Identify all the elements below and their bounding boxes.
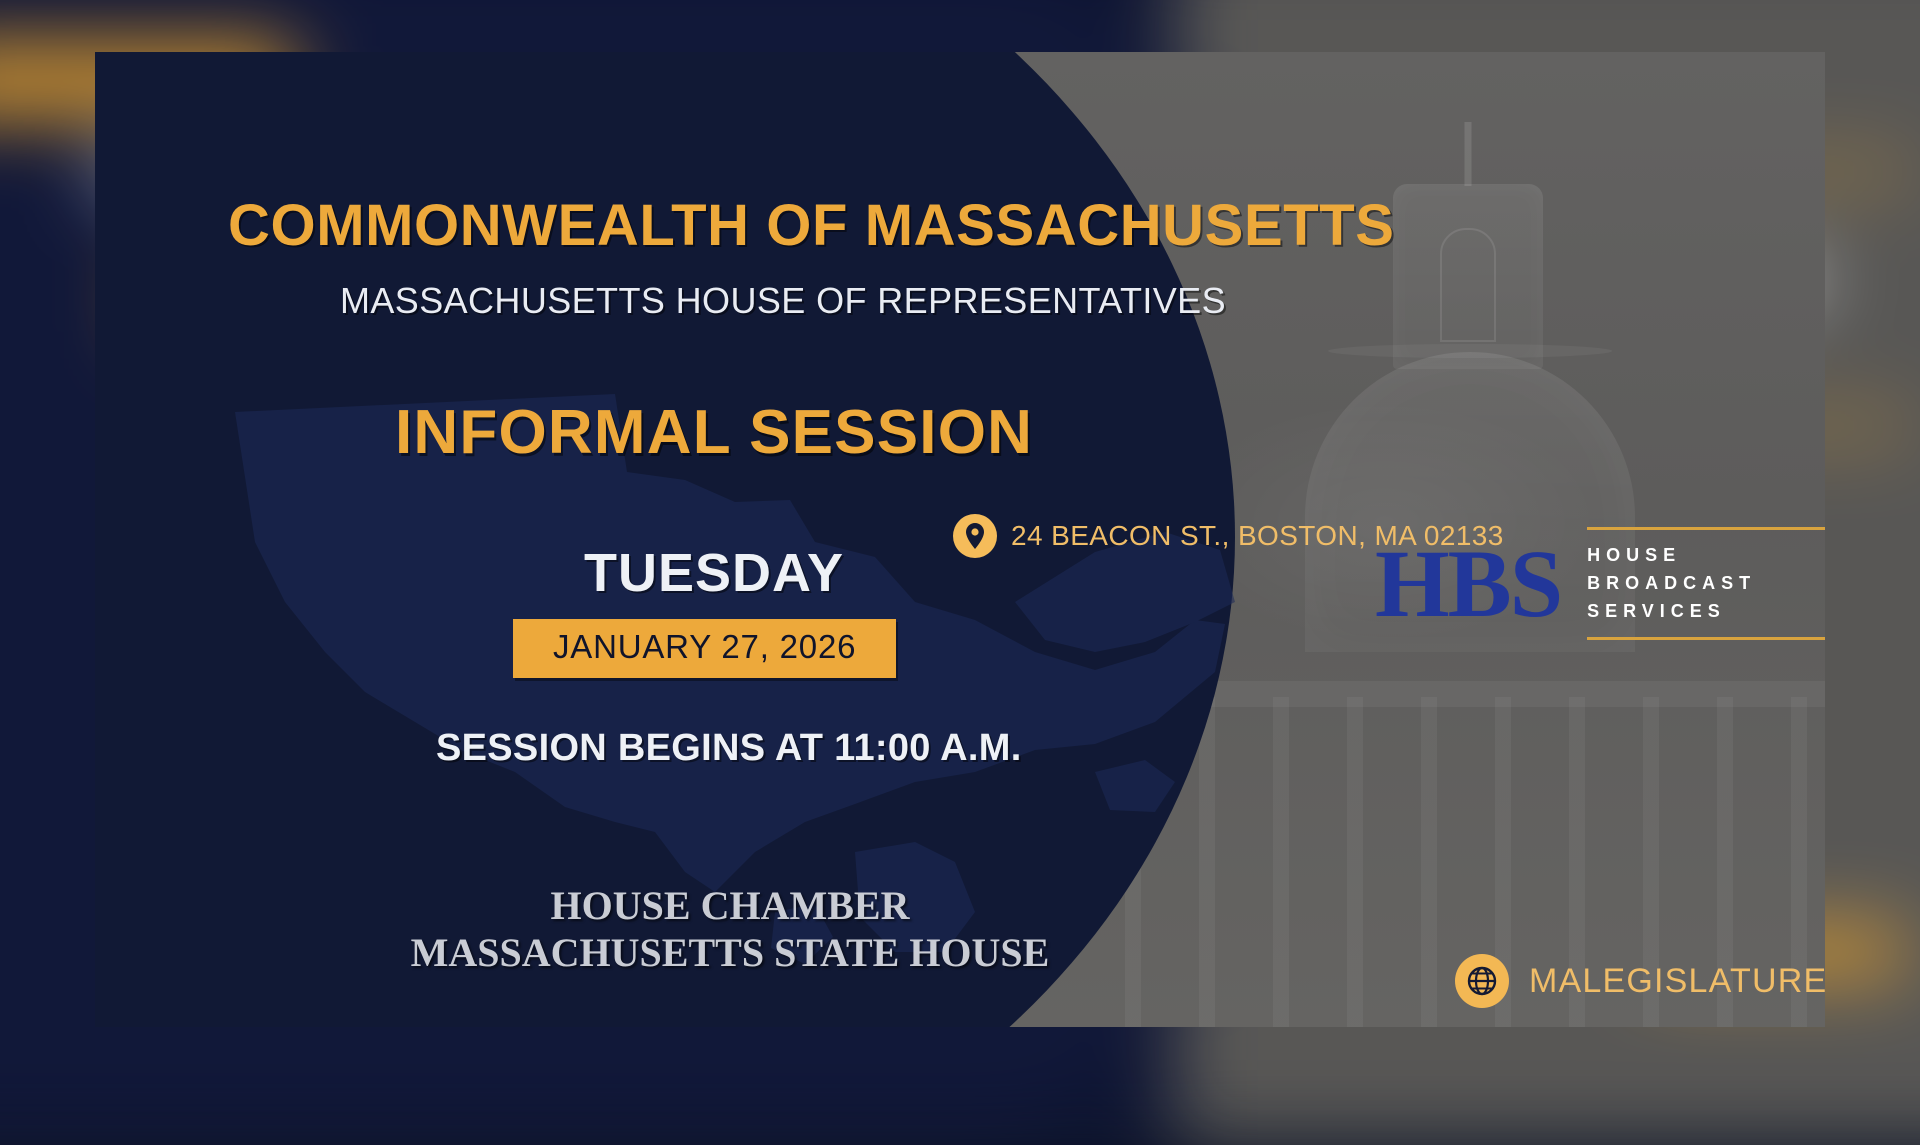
- session-type-heading: INFORMAL SESSION: [395, 397, 1033, 468]
- hbs-word-services: SERVICES: [1587, 601, 1825, 622]
- session-weekday: TUESDAY: [584, 542, 844, 604]
- hbs-word-house: HOUSE: [1587, 545, 1825, 566]
- venue-line-2: MASSACHUSETTS STATE HOUSE: [400, 929, 1060, 976]
- session-announcement-card: COMMONWEALTH OF MASSACHUSETTS MASSACHUSE…: [95, 52, 1825, 1027]
- session-start-time: SESSION BEGINS AT 11:00 A.M.: [436, 727, 1022, 770]
- card-content: COMMONWEALTH OF MASSACHUSETTS MASSACHUSE…: [95, 52, 1825, 1027]
- page-title: COMMONWEALTH OF MASSACHUSETTS: [228, 192, 1395, 259]
- page-subtitle: MASSACHUSETTS HOUSE OF REPRESENTATIVES: [340, 280, 1226, 322]
- hbs-monogram: HBS: [1375, 536, 1561, 632]
- hbs-logo: HBS HOUSE BROADCAST SERVICES: [1375, 520, 1825, 647]
- hbs-rule-bottom: [1587, 637, 1825, 640]
- hbs-wordmark-lines: HOUSE BROADCAST SERVICES: [1587, 537, 1825, 630]
- session-date-badge: JANUARY 27, 2026: [513, 619, 896, 678]
- hbs-rule-top: [1587, 527, 1825, 530]
- website-block: MALEGISLATURE.GOV: [1455, 954, 1825, 1008]
- hbs-word-broadcast: BROADCAST: [1587, 573, 1825, 594]
- venue-line-1: HOUSE CHAMBER: [400, 882, 1060, 929]
- website-text: MALEGISLATURE.GOV: [1529, 962, 1825, 1001]
- venue-block: HOUSE CHAMBER MASSACHUSETTS STATE HOUSE: [400, 882, 1060, 976]
- location-pin-icon: [953, 514, 997, 558]
- globe-icon: [1455, 954, 1509, 1008]
- hbs-wordmark: HOUSE BROADCAST SERVICES: [1587, 520, 1825, 647]
